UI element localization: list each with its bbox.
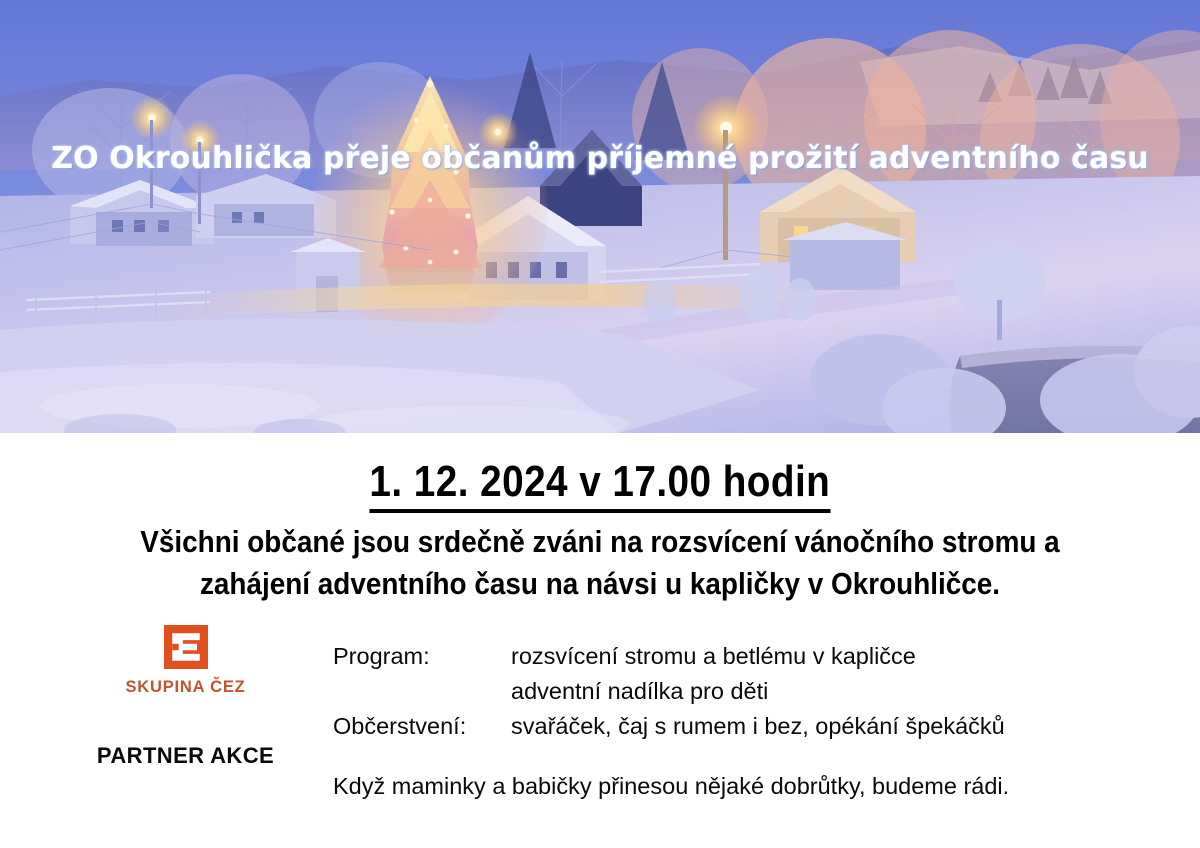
winter-scene-illustration [0,0,1200,433]
program-row: Občerstvení: svařáček, čaj s rumem i bez… [333,709,1005,744]
invitation-line-1: Všichni občané jsou srdečně zváni na roz… [60,521,1140,563]
event-headline: 1. 12. 2024 v 17.00 hodin [0,457,1200,513]
partner-label: PARTNER AKCE [78,743,293,769]
program-row-value: svařáček, čaj s rumem i bez, opékání špe… [511,709,1005,744]
closing-note: Když maminky a babičky přinesou nějaké d… [333,773,1009,800]
program-row-value: rozsvícení stromu a betlému v kapličce [511,639,1005,674]
sponsor-block: SKUPINA ČEZ PARTNER AKCE [78,625,293,769]
program-row: Program: rozsvícení stromu a betlému v k… [333,639,1005,674]
program-row-value: adventní nadílka pro děti [511,674,1005,709]
program-row-label: Program: [333,639,511,674]
invitation-line-2: zahájení adventního času na návsi u kapl… [60,563,1140,605]
program-row: adventní nadílka pro děti [333,674,1005,709]
cez-logo-wordmark: SKUPINA ČEZ [78,678,293,697]
event-datetime: 1. 12. 2024 v 17.00 hodin [370,457,831,513]
cez-logo-icon [164,625,208,669]
invitation-text: Všichni občané jsou srdečně zváni na roz… [0,521,1200,605]
program-row-label: Občerstvení: [333,709,511,744]
poster-body: 1. 12. 2024 v 17.00 hodin Všichni občané… [0,433,1200,848]
advent-poster: ZO Okrouhlička přeje občanům příjemné pr… [0,0,1200,848]
program-row-label [333,674,511,709]
program-list: Program: rozsvícení stromu a betlému v k… [333,639,1005,744]
winter-village-photo: ZO Okrouhlička přeje občanům příjemné pr… [0,0,1200,433]
